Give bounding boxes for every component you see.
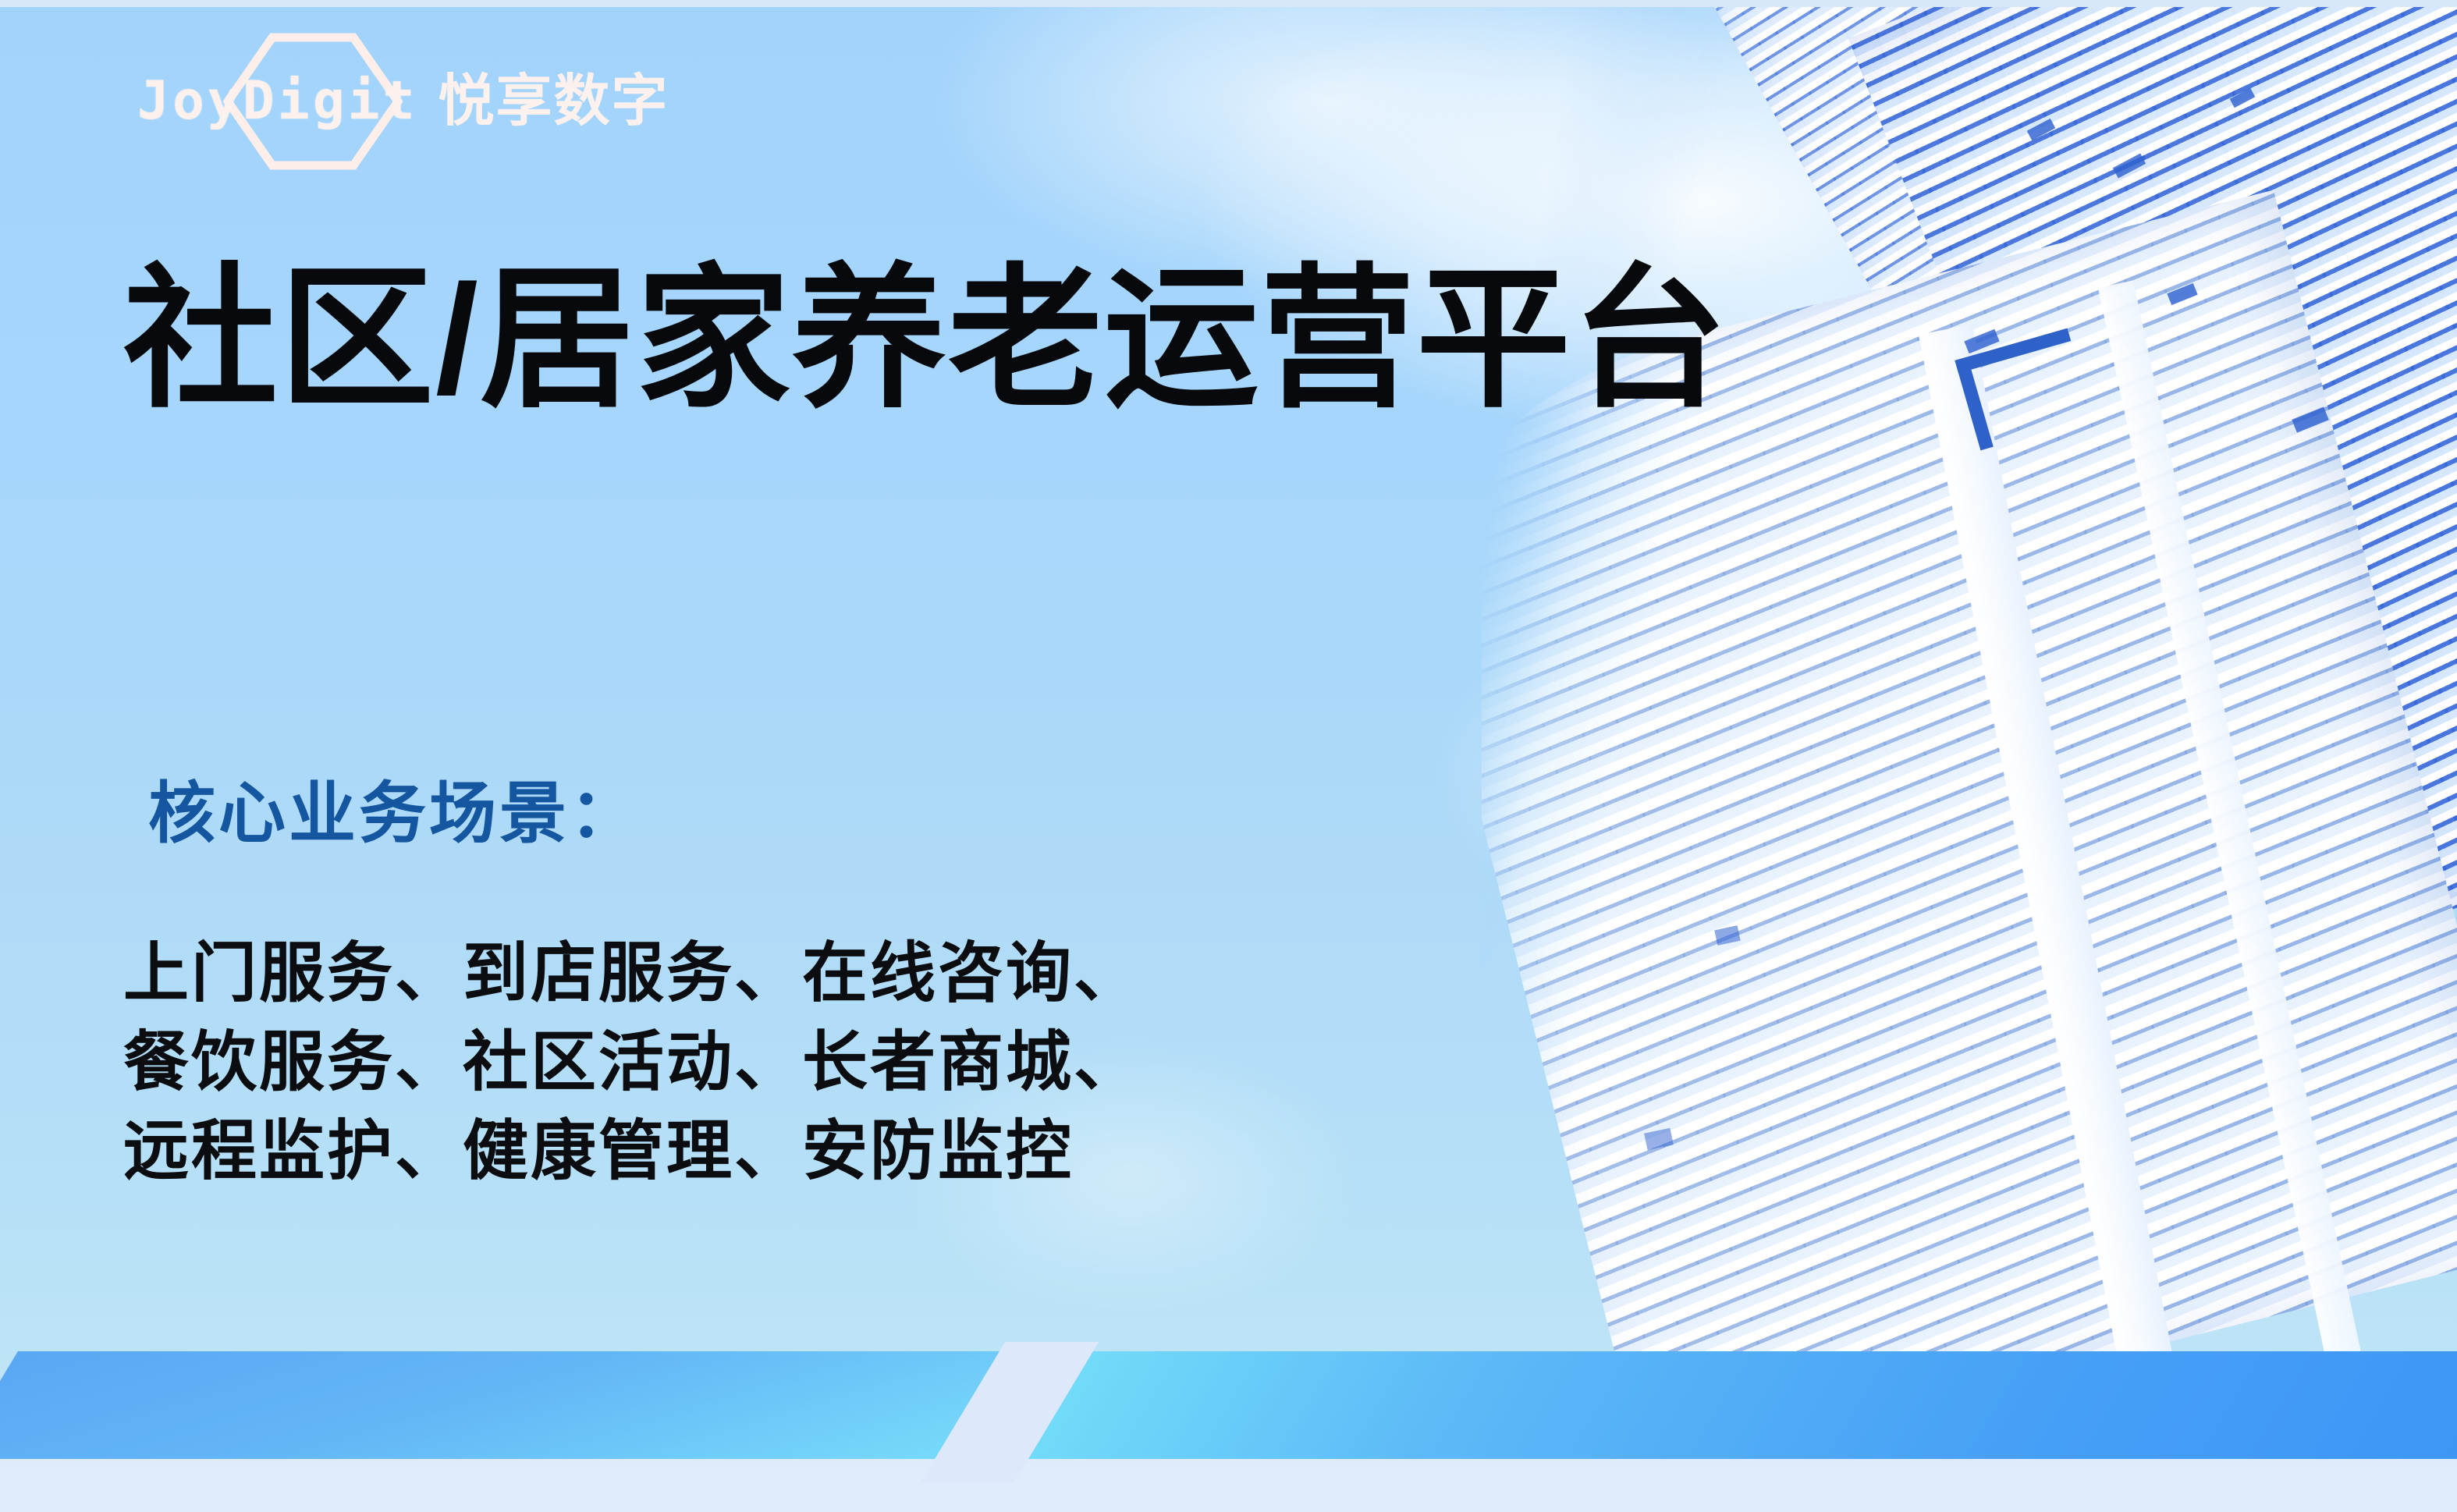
band-segment-right — [1007, 1351, 2457, 1459]
scenario-list: 上门服务、到店服务、在线咨询、 餐饮服务、社区活动、长者商城、 远程监护、健康管… — [123, 928, 1142, 1196]
skyscraper-photo — [1482, 7, 2457, 1389]
band-segment-left — [0, 1351, 1056, 1459]
logo-chinese-text: 悦享数字 — [438, 73, 669, 130]
logo-latin-text: JoyDigit — [137, 75, 418, 128]
section-heading: 核心业务场景： — [148, 780, 640, 847]
scenario-line: 餐饮服务、社区活动、长者商城、 — [123, 1017, 1142, 1106]
scenario-line: 远程监护、健康管理、安防监控 — [123, 1106, 1142, 1195]
bottom-decorative-band — [0, 1342, 2457, 1512]
page-title: 社区/居家养老运营平台 — [123, 257, 1728, 421]
brand-logo: JoyDigit 悦享数字 — [137, 66, 669, 137]
top-edge-strip — [0, 0, 2457, 7]
scenario-line: 上门服务、到店服务、在线咨询、 — [123, 928, 1142, 1017]
slide-canvas: JoyDigit 悦享数字 社区/居家养老运营平台 核心业务场景： 上门服务、到… — [0, 0, 2457, 1512]
